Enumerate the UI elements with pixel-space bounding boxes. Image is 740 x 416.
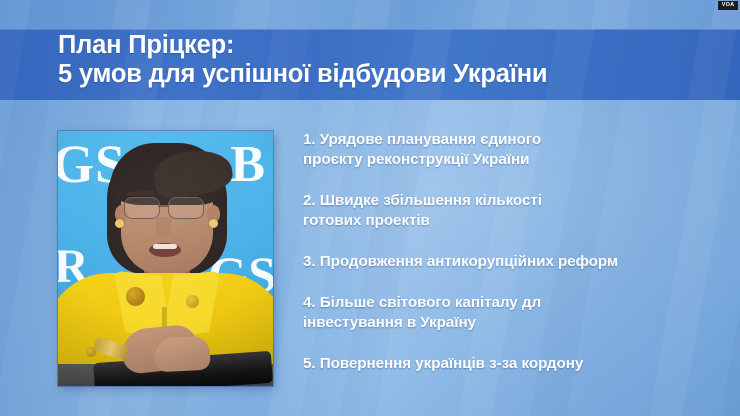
top-strip-streaks [0, 0, 740, 29]
voa-logo: VOA [718, 1, 738, 10]
list-item: 1. Урядове планування єдиного проєкту ре… [303, 130, 723, 170]
top-strip [0, 0, 740, 29]
page-title: План Пріцкер: 5 умов для успішної відбуд… [58, 31, 718, 89]
photo-shading [58, 131, 273, 386]
list-item: 4. Більше світового капіталу дл інвестув… [303, 293, 723, 333]
infographic-slide: VOA План Пріцкер: 5 умов для успішної ві… [0, 0, 740, 416]
conditions-list: 1. Урядове планування єдиного проєкту ре… [303, 130, 723, 374]
list-item: 5. Повернення українців з-за кордону [303, 354, 723, 374]
speaker-photo: GS B R GS [58, 131, 273, 386]
list-item: 3. Продовження антикорупційних реформ [303, 252, 723, 272]
voa-logo-text: VOA [722, 3, 735, 9]
list-item: 2. Швидке збільшення кількості готових п… [303, 191, 723, 231]
speaker-figure [58, 131, 273, 386]
